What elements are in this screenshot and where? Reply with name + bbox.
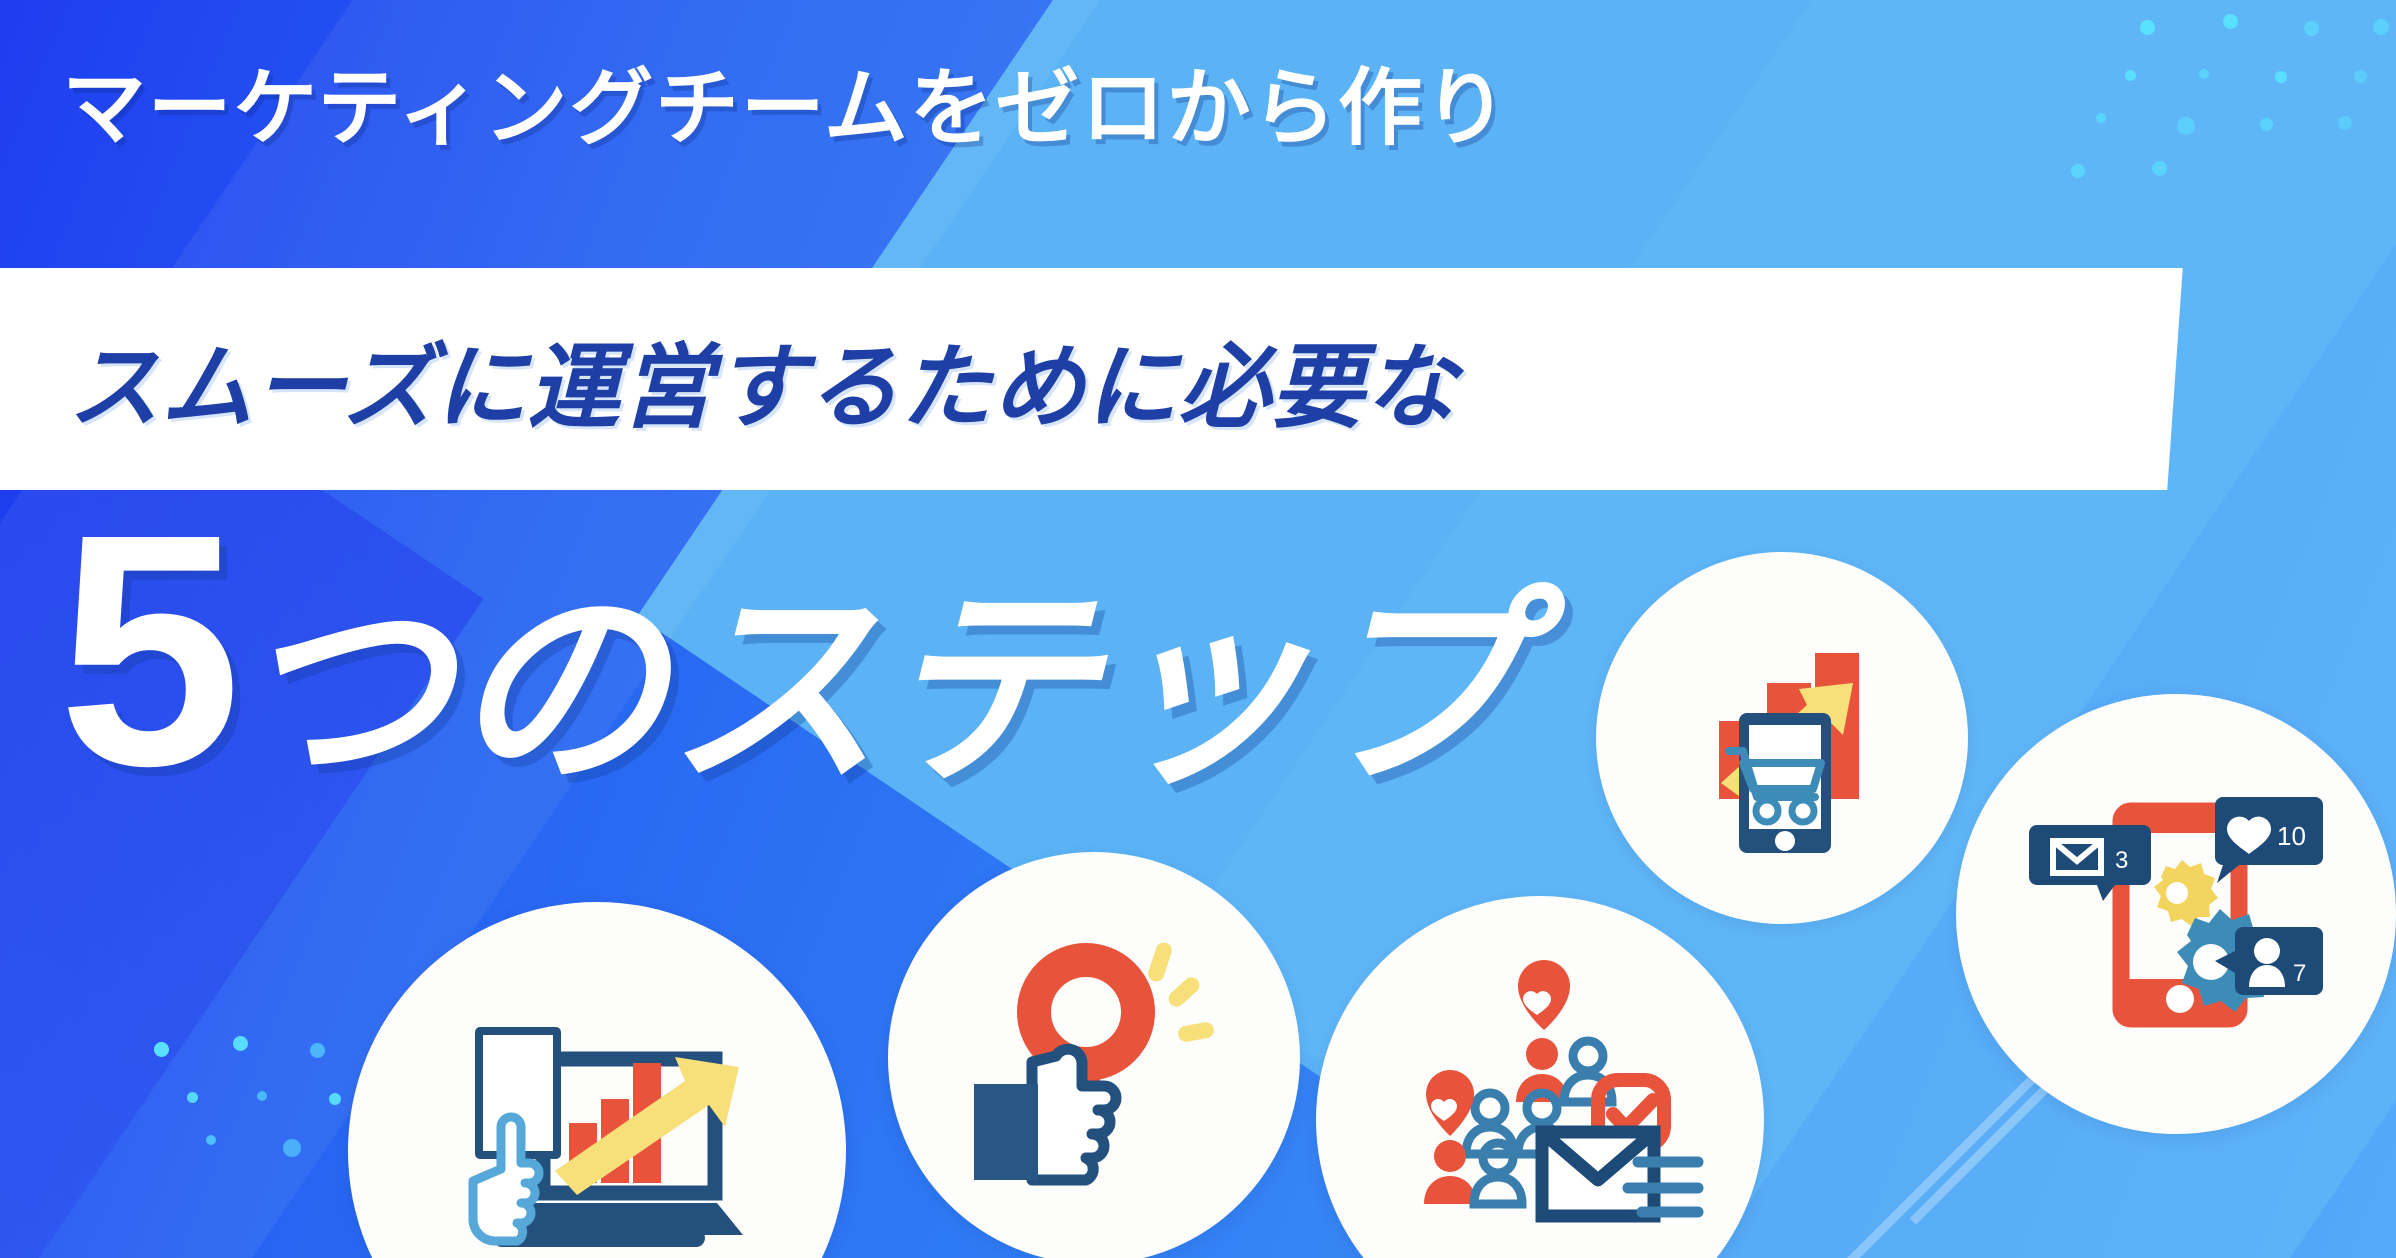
decorative-dot <box>2354 70 2367 83</box>
icon-circle-approval <box>888 852 1300 1258</box>
decorative-dot <box>206 1135 216 1145</box>
decorative-dot <box>2275 71 2287 83</box>
headline-line-1: マーケティングチームをゼロから作り <box>62 60 1962 157</box>
decorative-dot <box>257 1091 267 1101</box>
big-headline: 5 つのステップ <box>58 498 1526 802</box>
decorative-dot <box>2140 20 2155 35</box>
mail-icon <box>1542 1132 1698 1216</box>
decorative-dot <box>283 1139 301 1157</box>
thumbs-up-idea-icon <box>944 908 1244 1208</box>
badge-user-count: 7 <box>2293 960 2306 987</box>
decorative-dot <box>2304 21 2319 36</box>
big-headline-number: 5 <box>58 498 232 802</box>
diagonal-line-top-left-2 <box>0 0 64 232</box>
sparkle-icon <box>1146 941 1215 1043</box>
heart-pin-icon <box>1518 960 1570 1030</box>
icon-circle-crm-email <box>1316 896 1764 1258</box>
headline-line-2: スムーズに運営するために必要な <box>68 313 1457 446</box>
badge-mail-count: 3 <box>2115 847 2128 874</box>
decorative-dot <box>154 1042 169 1057</box>
gear-small-icon <box>2154 860 2218 926</box>
headline-band: スムーズに運営するために必要な <box>0 268 2183 490</box>
decorative-dot <box>187 1092 198 1103</box>
decorative-dot <box>2152 161 2167 176</box>
decorative-dot <box>2338 116 2352 130</box>
laptop-analytics-icon <box>417 971 777 1258</box>
decorative-dot <box>329 1093 341 1105</box>
decorative-dot <box>233 1036 248 1051</box>
badge-heart: 10 <box>2215 797 2323 883</box>
decorative-dot <box>2199 69 2209 79</box>
icon-circle-ecommerce-growth <box>1596 552 1968 924</box>
decorative-dot <box>2373 19 2389 35</box>
decorative-dot <box>2071 164 2085 178</box>
decorative-dot <box>2260 118 2273 131</box>
decorative-dot <box>2177 117 2195 135</box>
mobile-shopping-growth-icon <box>1657 613 1907 863</box>
social-engagement-phone-icon: 3 10 7 <box>2011 749 2341 1079</box>
badge-mail: 3 <box>2029 825 2151 901</box>
decorative-dots-top-right <box>2006 6 2366 236</box>
decorative-dot <box>310 1043 325 1058</box>
banner-canvas: マーケティングチームをゼロから作り スムーズに運営するために必要な 5 つのステ… <box>0 0 2396 1258</box>
badge-heart-count: 10 <box>2277 821 2306 851</box>
big-headline-tail: つのステップ <box>236 582 1526 797</box>
customer-email-network-icon <box>1370 950 1710 1258</box>
decorative-dot <box>2223 14 2238 29</box>
decorative-dot <box>2096 113 2106 123</box>
icon-circle-social-engagement: 3 10 7 <box>1956 694 2396 1134</box>
decorative-dot <box>2125 70 2136 81</box>
